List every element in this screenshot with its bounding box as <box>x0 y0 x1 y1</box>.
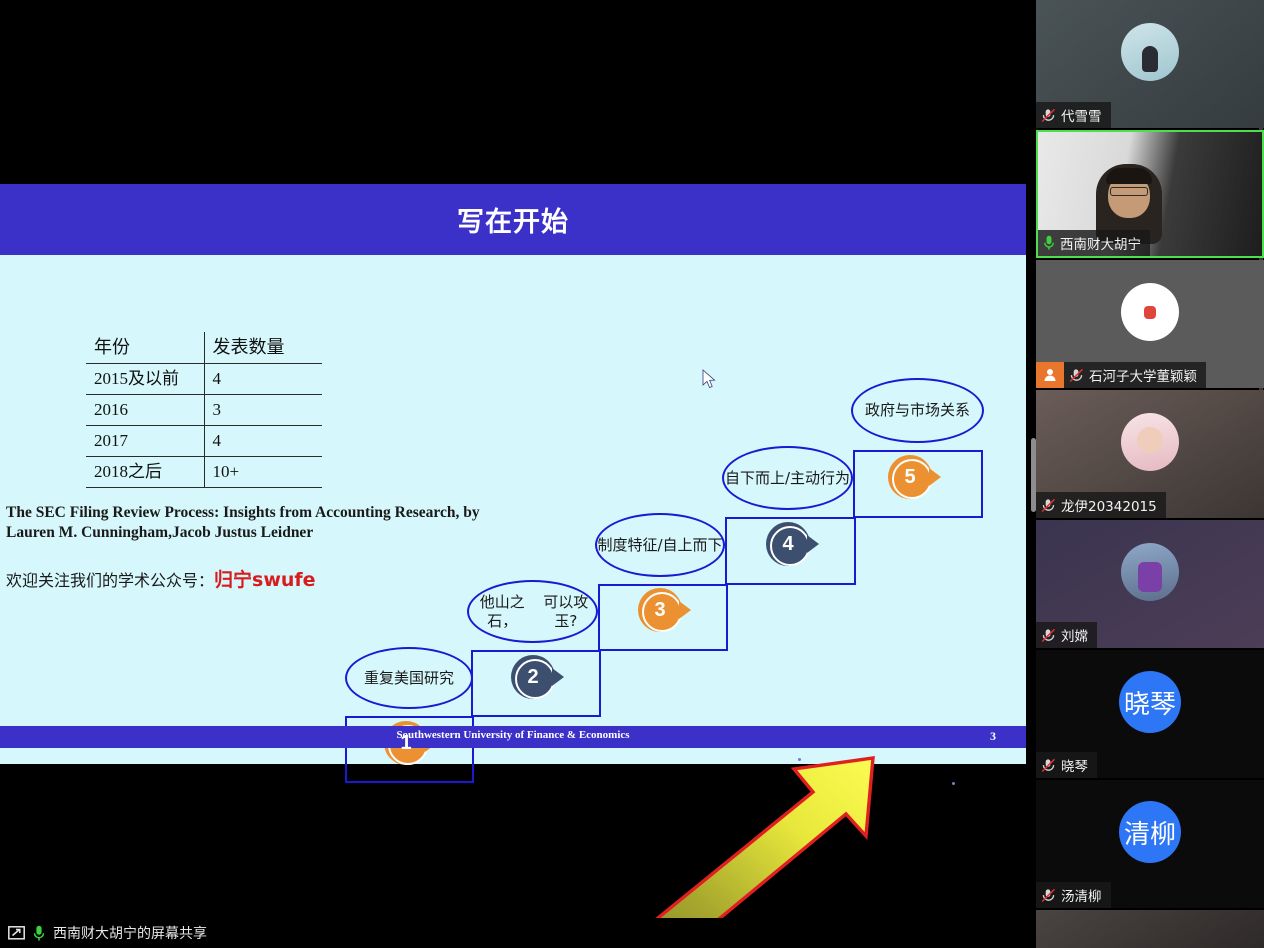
table-cell-count: 4 <box>204 363 322 394</box>
wechat-prompt: 欢迎关注我们的学术公众号： <box>6 571 214 590</box>
participant-tile-partial[interactable] <box>1036 910 1264 948</box>
table-cell-count: 3 <box>204 394 322 425</box>
mic-muted-icon <box>1069 368 1084 383</box>
participant-nameplate: 晓琴 <box>1036 752 1097 778</box>
presenter-hair <box>1106 168 1152 184</box>
screen-share-label: 西南财大胡宁的屏幕共享 <box>53 923 207 943</box>
presentation-slide: 写在开始 年份 发表数量 2015及以前 4 2016 3 <box>0 184 1026 764</box>
table-cell-year: 2017 <box>86 425 204 456</box>
step-box-4 <box>725 517 856 585</box>
avatar-initials: 晓琴 <box>1119 671 1181 733</box>
table-cell-year: 2018之后 <box>86 456 204 487</box>
participant-name: 刘嫦 <box>1061 625 1088 645</box>
participant-tile[interactable]: 晓琴 晓琴 <box>1036 650 1264 778</box>
participant-nameplate: 石河子大学董颖颖 <box>1064 362 1206 388</box>
slide-body: 年份 发表数量 2015及以前 4 2016 3 2017 4 <box>0 255 1026 727</box>
participant-tile[interactable]: 刘嫦 <box>1036 520 1264 648</box>
table-row: 2018之后 10+ <box>86 456 322 487</box>
participant-sidebar[interactable]: 代雪雪 西南财大胡宁 <box>1030 0 1264 948</box>
avatar <box>1121 23 1179 81</box>
publication-count-table: 年份 发表数量 2015及以前 4 2016 3 2017 4 <box>86 332 322 488</box>
slide-footer-bar: Southwestern University of Finance & Eco… <box>0 726 1026 748</box>
step-badge-2: 2 <box>511 655 555 699</box>
participant-tile-active-speaker[interactable]: 西南财大胡宁 <box>1036 130 1264 258</box>
table-row: 2016 3 <box>86 394 322 425</box>
table-cell-count: 4 <box>204 425 322 456</box>
avatar-initials: 清柳 <box>1119 801 1181 863</box>
participant-nameplate: 龙伊20342015 <box>1036 492 1166 518</box>
apple-emoji-icon <box>1144 306 1156 319</box>
participant-name: 龙伊20342015 <box>1061 495 1157 515</box>
avatar <box>1121 413 1179 471</box>
mic-on-icon <box>1043 235 1055 251</box>
table-header-year: 年份 <box>86 332 204 363</box>
mic-muted-icon <box>1041 628 1056 643</box>
mic-muted-icon <box>1041 498 1056 513</box>
decorative-dot <box>952 782 955 785</box>
participant-tile[interactable]: 清柳 汤清柳 <box>1036 780 1264 908</box>
step-callout-1: 重复美国研究 <box>345 647 473 709</box>
step-callout-4: 自下而上/主动行为 <box>722 446 853 510</box>
participant-name: 代雪雪 <box>1061 105 1102 125</box>
step-badge-5: 5 <box>888 455 932 499</box>
participant-tile[interactable]: 代雪雪 <box>1036 0 1264 128</box>
participant-nameplate: 汤清柳 <box>1036 882 1111 908</box>
zoom-meeting-window: 写在开始 年份 发表数量 2015及以前 4 2016 3 <box>0 0 1264 948</box>
wechat-account-line: 欢迎关注我们的学术公众号：归宁swufe <box>6 565 316 592</box>
wechat-account-name: 归宁swufe <box>214 569 316 591</box>
upward-growth-arrow <box>608 750 898 918</box>
mic-muted-icon <box>1041 758 1056 773</box>
step-callout-3: 制度特征/自上而下 <box>595 513 725 577</box>
step-badge-4: 4 <box>766 522 810 566</box>
participant-nameplate: 刘嫦 <box>1036 622 1097 648</box>
step-box-5 <box>853 450 983 518</box>
participant-name: 汤清柳 <box>1061 885 1102 905</box>
table-cell-count: 10+ <box>204 456 322 487</box>
mouse-cursor <box>702 369 716 389</box>
participant-name: 石河子大学董颖颖 <box>1089 365 1197 385</box>
mic-muted-icon <box>1041 888 1056 903</box>
paper-citation: The SEC Filing Review Process: Insights … <box>6 503 526 544</box>
table-header-count: 发表数量 <box>204 332 322 363</box>
slide-header-bar: 写在开始 <box>0 184 1026 255</box>
table-cell-year: 2015及以前 <box>86 363 204 394</box>
participant-name: 西南财大胡宁 <box>1060 233 1141 253</box>
participant-name: 晓琴 <box>1061 755 1088 775</box>
screen-share-status-bar: 西南财大胡宁的屏幕共享 <box>0 918 1030 948</box>
decorative-dot <box>798 758 801 761</box>
mic-on-icon <box>33 925 45 942</box>
shared-screen-area: 写在开始 年份 发表数量 2015及以前 4 2016 3 <box>0 0 1030 918</box>
slide-title: 写在开始 <box>457 200 569 239</box>
staircase-diagram: 1 2 3 4 5 重复美国研究 他山之石 <box>0 255 1026 727</box>
step-badge-3: 3 <box>638 588 682 632</box>
step-callout-2: 他山之石，可以攻玉? <box>467 580 598 643</box>
table-row: 2017 4 <box>86 425 322 456</box>
slide-footer-text: Southwestern University of Finance & Eco… <box>0 729 1026 741</box>
participant-nameplate: 代雪雪 <box>1036 102 1111 128</box>
participant-tile[interactable]: 龙伊20342015 <box>1036 390 1264 518</box>
table-cell-year: 2016 <box>86 394 204 425</box>
host-badge <box>1036 362 1064 388</box>
step-callout-5: 政府与市场关系 <box>851 378 984 443</box>
screen-share-icon <box>8 926 25 941</box>
participant-nameplate: 西南财大胡宁 <box>1038 230 1150 256</box>
presenter-glasses <box>1110 187 1148 196</box>
table-header-row: 年份 发表数量 <box>86 332 322 363</box>
step-box-3 <box>598 584 728 651</box>
avatar <box>1121 283 1179 341</box>
mic-muted-icon <box>1041 108 1056 123</box>
step-number-2: 2 <box>527 666 538 689</box>
person-icon <box>1043 368 1057 382</box>
step-number-3: 3 <box>654 599 665 622</box>
step-number-4: 4 <box>782 533 793 556</box>
table-row: 2015及以前 4 <box>86 363 322 394</box>
avatar <box>1121 543 1179 601</box>
participant-tile[interactable]: 石河子大学董颖颖 <box>1036 260 1264 388</box>
step-number-5: 5 <box>904 466 915 489</box>
step-box-2 <box>471 650 601 717</box>
slide-page-number: 3 <box>990 729 996 744</box>
